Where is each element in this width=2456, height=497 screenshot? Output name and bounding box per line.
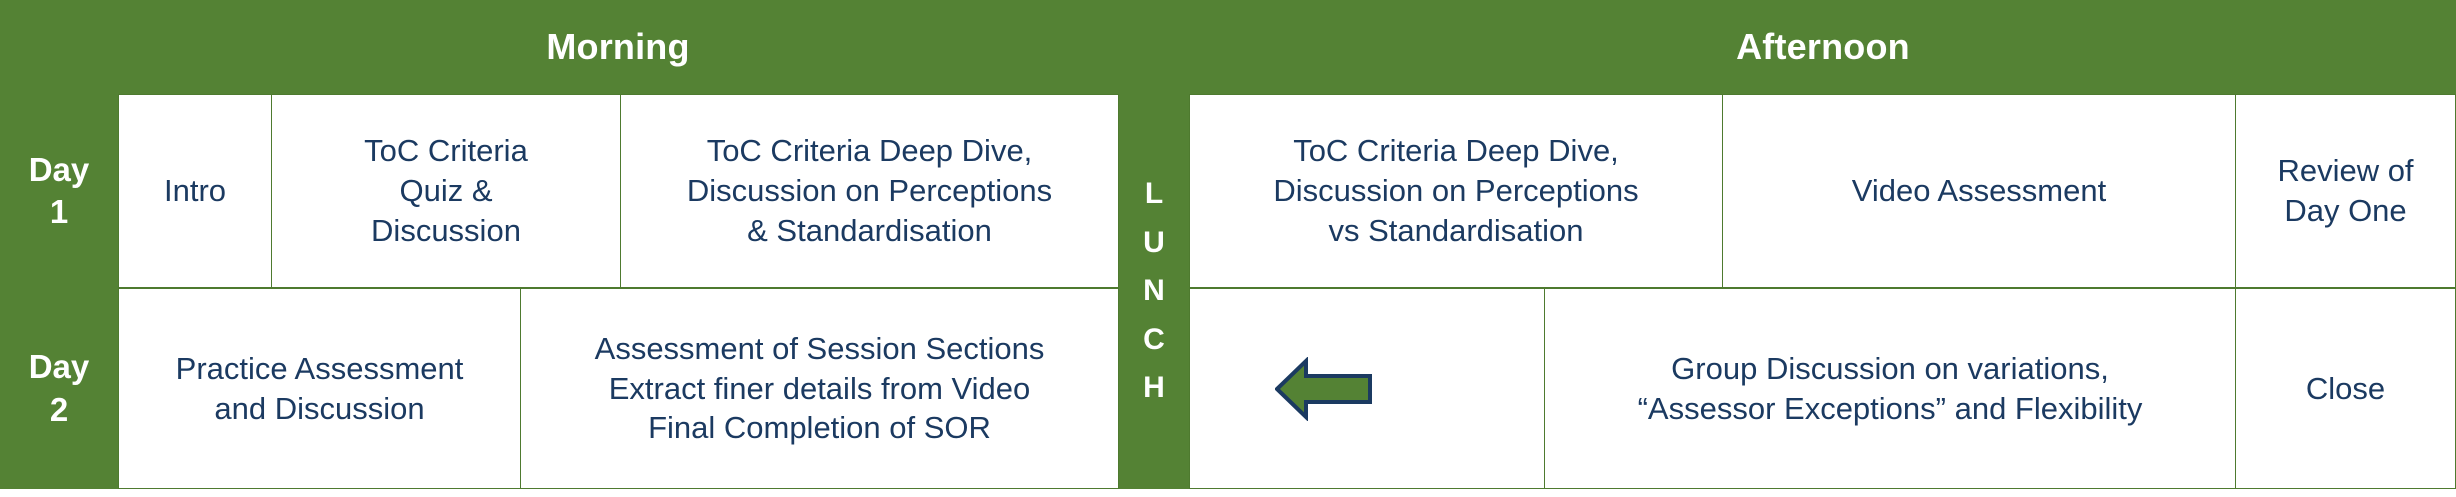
schedule-cell-continuation-arrow — [1189, 288, 1545, 489]
cell-text: Intro — [129, 171, 261, 211]
lunch-letter: H — [1143, 364, 1165, 413]
cell-text: Close — [2246, 369, 2445, 409]
day-label-number: 1 — [50, 191, 68, 233]
session-header-band: Morning Afternoon — [0, 0, 2456, 94]
cell-text: ToC Criteria Deep Dive,Discussion on Per… — [631, 131, 1108, 250]
session-header-morning: Morning — [118, 0, 1118, 94]
cell-text: Review ofDay One — [2246, 151, 2445, 230]
cell-text: ToC Criteria Deep Dive,Discussion on Per… — [1200, 131, 1712, 250]
cell-text: Group Discussion on variations,“Assessor… — [1555, 349, 2225, 428]
day-label-day-1: Day 1 — [0, 94, 118, 288]
day-label-word: Day — [29, 149, 90, 191]
training-schedule-table: Morning Afternoon Day 1 Day 2 L U N C H … — [0, 0, 2456, 497]
lunch-letter: L — [1145, 170, 1163, 219]
schedule-cell-review-of-day-one: Review ofDay One — [2235, 94, 2456, 288]
day-label-number: 2 — [50, 389, 68, 431]
schedule-cell-assessment-of-session-sections: Assessment of Session SectionsExtract fi… — [520, 288, 1119, 489]
lunch-column: L U N C H — [1118, 94, 1190, 489]
lunch-letter: C — [1143, 316, 1165, 365]
schedule-cell-video-assessment: Video Assessment — [1722, 94, 2236, 288]
schedule-cell-practice-assessment: Practice Assessmentand Discussion — [118, 288, 521, 489]
schedule-cell-intro: Intro — [118, 94, 272, 288]
schedule-cell-toc-criteria-quiz: ToC CriteriaQuiz &Discussion — [271, 94, 621, 288]
lunch-letter: U — [1143, 219, 1165, 268]
left-arrow-icon — [1275, 357, 1372, 421]
schedule-cell-toc-deep-dive-pm: ToC Criteria Deep Dive,Discussion on Per… — [1189, 94, 1723, 288]
day-label-day-2: Day 2 — [0, 288, 118, 489]
cell-text: ToC CriteriaQuiz &Discussion — [282, 131, 610, 250]
schedule-cell-close: Close — [2235, 288, 2456, 489]
day-label-word: Day — [29, 346, 90, 388]
cell-text: Practice Assessmentand Discussion — [129, 349, 510, 428]
schedule-cell-toc-deep-dive-am: ToC Criteria Deep Dive,Discussion on Per… — [620, 94, 1119, 288]
cell-text: Assessment of Session SectionsExtract fi… — [531, 329, 1108, 448]
cell-text: Video Assessment — [1733, 171, 2225, 211]
schedule-cell-group-discussion: Group Discussion on variations,“Assessor… — [1544, 288, 2236, 489]
lunch-letter: N — [1143, 267, 1165, 316]
session-header-afternoon: Afternoon — [1190, 0, 2456, 94]
